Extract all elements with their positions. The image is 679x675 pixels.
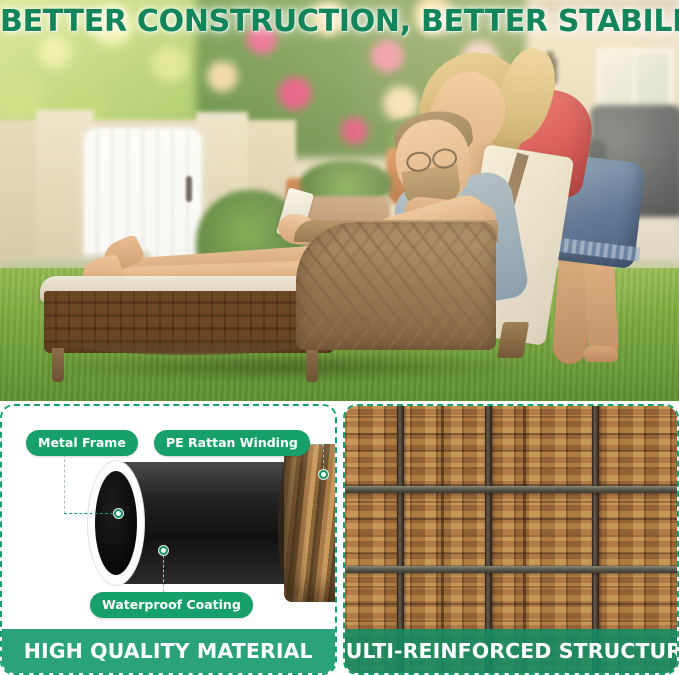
tube-cutaway-graphic	[88, 462, 335, 584]
callout-line-metal-frame-vertical	[64, 454, 65, 514]
callout-dot-waterproof	[159, 546, 168, 555]
page-title: BETTER CONSTRUCTION, BETTER STABILITY	[0, 4, 679, 39]
gate-latch	[186, 176, 192, 202]
woman-foot	[584, 346, 618, 362]
material-illustration: Metal Frame PE Rattan Winding Waterproof…	[2, 406, 335, 629]
metal-frame-bar-horizontal-1	[345, 486, 678, 493]
product-infographic: BETTER CONSTRUCTION, BETTER STABILITY	[0, 0, 679, 675]
panel-high-quality-material: Metal Frame PE Rattan Winding Waterproof…	[0, 404, 337, 675]
callout-line-waterproof-vertical	[163, 550, 164, 592]
tube-open-end	[88, 461, 144, 585]
callout-dot-pe-rattan	[319, 470, 328, 479]
furniture-shadow	[36, 352, 536, 382]
rattan-shadow-cap	[278, 446, 308, 600]
tube-bore	[95, 471, 137, 575]
panel-caption-high-quality-material: HIGH QUALITY MATERIAL	[2, 629, 335, 673]
chaise-leg-right	[306, 348, 318, 382]
chaise-wicker-armrest	[296, 222, 496, 350]
callout-dot-metal-frame	[114, 509, 123, 518]
hero-lifestyle-photo: BETTER CONSTRUCTION, BETTER STABILITY	[0, 0, 679, 401]
metal-frame-bar-horizontal-2	[345, 566, 678, 573]
callout-badge-waterproof-coating: Waterproof Coating	[90, 592, 253, 618]
panel-multi-reinforced-structure: MULTI-REINFORCED STRUCTURE	[343, 404, 679, 675]
feature-panels: Metal Frame PE Rattan Winding Waterproof…	[0, 404, 679, 675]
panel-caption-multi-reinforced-structure: MULTI-REINFORCED STRUCTURE	[345, 629, 678, 673]
chaise-leg-left	[52, 348, 64, 382]
callout-badge-pe-rattan-winding: PE Rattan Winding	[154, 430, 310, 456]
callout-line-metal-frame-horizontal	[64, 513, 118, 514]
chaise-wicker-base	[44, 291, 334, 353]
callout-badge-metal-frame: Metal Frame	[26, 430, 138, 456]
